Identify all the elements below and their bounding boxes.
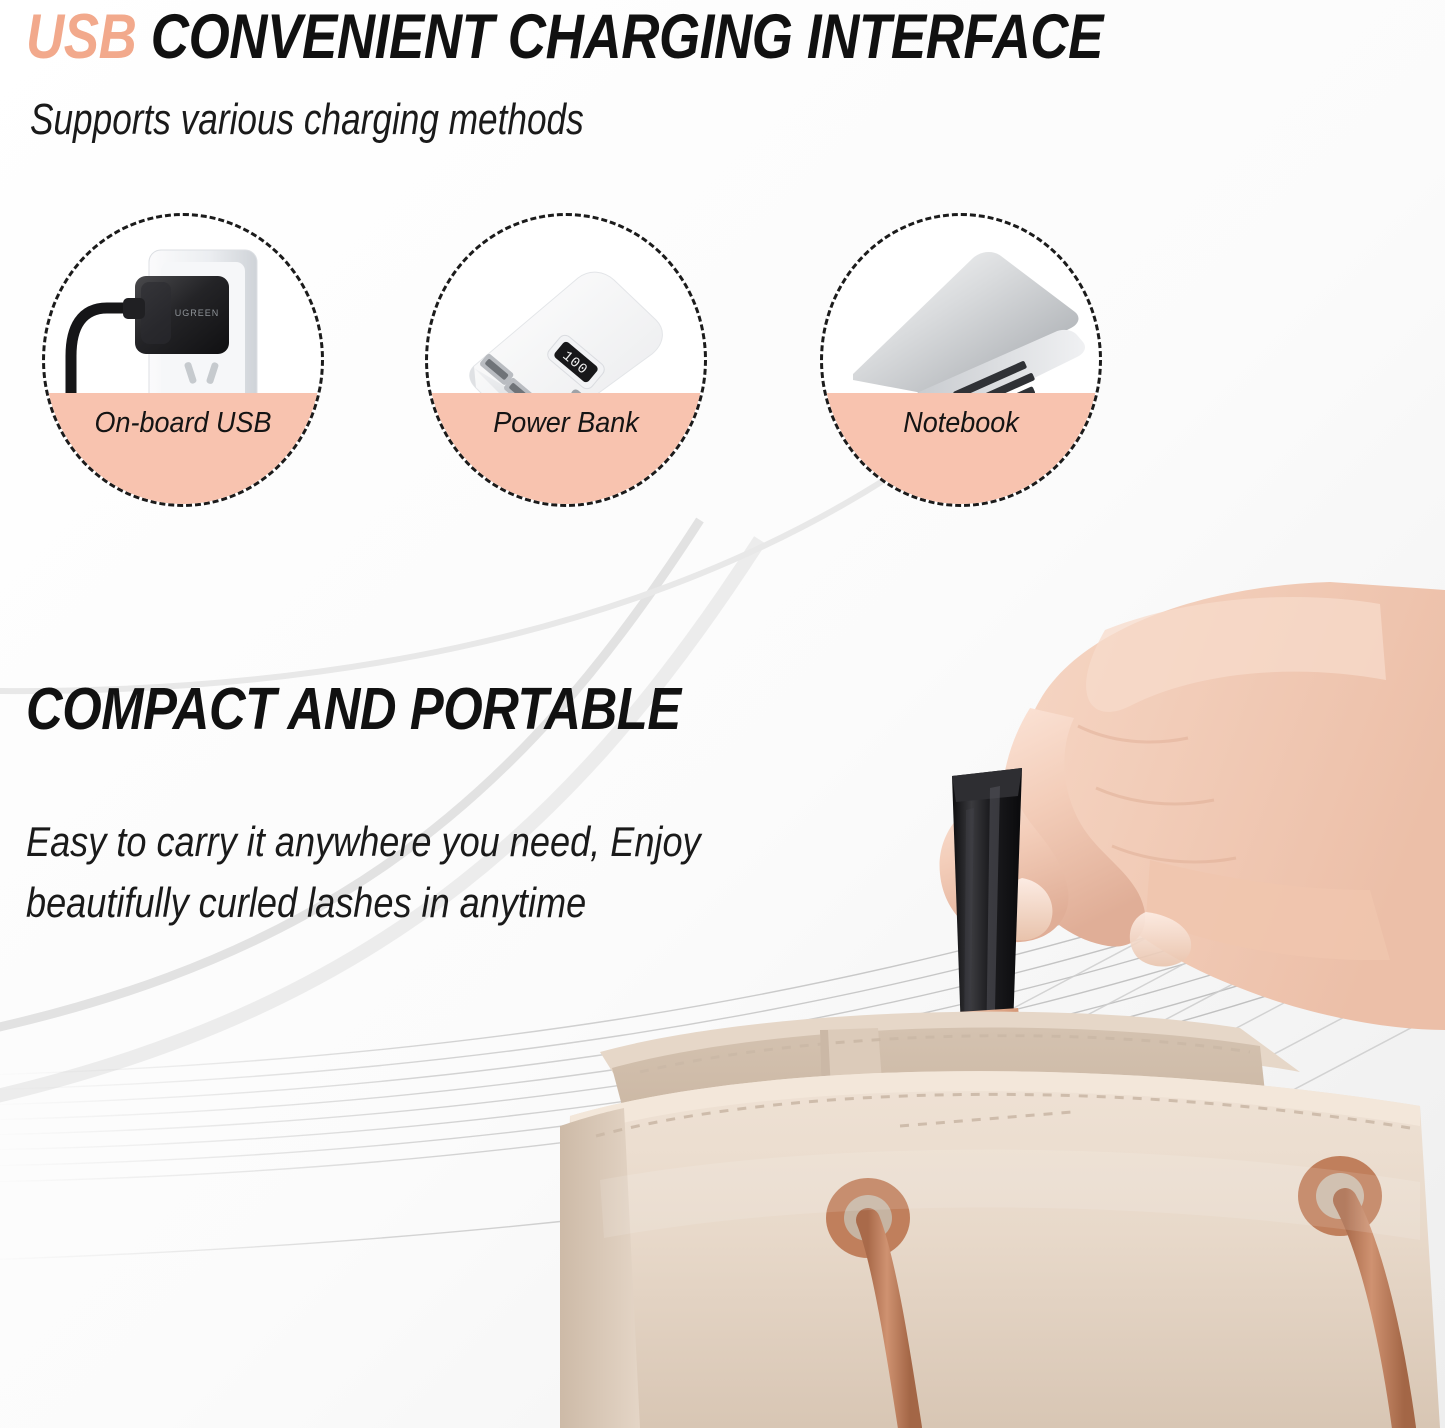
method-label: On-board USB [55,407,312,440]
charging-method-on-board-usb: UGREEN On-board USB [42,213,324,507]
charging-method-notebook: Notebook [820,213,1102,507]
hero-photo [0,560,1445,1428]
charger-brand-label: UGREEN [175,308,220,318]
method-label-band: Notebook [823,393,1099,504]
method-label-band: On-board USB [45,393,321,504]
page-title-rest: CONVENIENT CHARGING INTERFACE [151,2,1103,72]
handbag [560,1012,1440,1428]
page-subtitle: Supports various charging methods [30,98,584,142]
method-label-band: Power Bank [428,393,704,504]
page-title-accent: USB [26,2,136,72]
hero-illustration [0,560,1445,1428]
charging-methods-row: UGREEN On-board USB [0,213,1200,513]
product-infographic-page: USB CONVENIENT CHARGING INTERFACE Suppor… [0,0,1445,1428]
method-label: Power Bank [438,407,695,440]
charging-method-power-bank: 100 Power Bank [425,213,707,507]
method-label: Notebook [833,407,1090,440]
page-title: USB CONVENIENT CHARGING INTERFACE [26,6,1103,69]
